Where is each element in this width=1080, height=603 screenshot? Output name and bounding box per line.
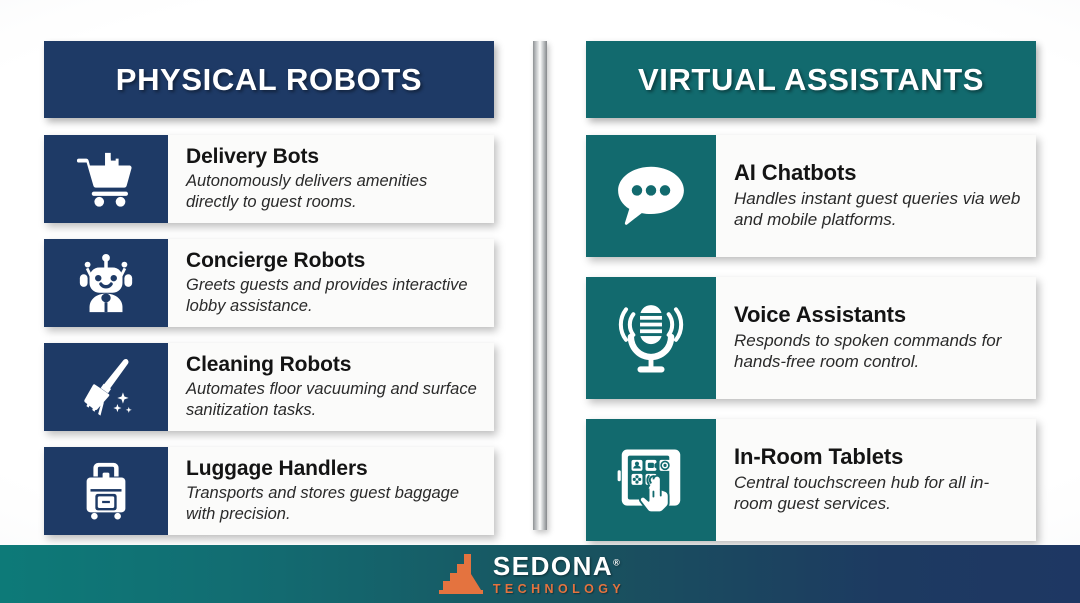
chat-bubble-icon — [612, 157, 690, 235]
card-title: AI Chatbots — [734, 161, 1022, 186]
card-title: In-Room Tablets — [734, 445, 1022, 470]
card-title: Luggage Handlers — [186, 457, 480, 481]
column-virtual-assistants: VIRTUAL ASSISTANTS — [586, 41, 1036, 541]
columns-container: PHYSICAL ROBOTS — [0, 0, 1080, 545]
microphone-waves-icon — [612, 299, 690, 377]
column-header-label: VIRTUAL ASSISTANTS — [638, 62, 984, 98]
center-divider — [533, 41, 547, 530]
card-icon-panel — [44, 343, 168, 431]
card-description: Responds to spoken commands for hands-fr… — [734, 330, 1022, 373]
card-description: Greets guests and provides interactive l… — [186, 275, 480, 317]
logo-brand-label: SEDONA — [493, 551, 613, 581]
card-text-block: Concierge Robots Greets guests and provi… — [168, 239, 494, 327]
card-title: Cleaning Robots — [186, 353, 480, 377]
card-text-block: Delivery Bots Autonomously delivers amen… — [168, 135, 494, 223]
registered-trademark-icon: ® — [613, 557, 620, 567]
card-luggage-handlers[interactable]: Luggage Handlers Transports and stores g… — [44, 447, 494, 535]
card-icon-panel — [44, 135, 168, 223]
card-description: Handles instant guest queries via web an… — [734, 188, 1022, 231]
shopping-cart-icon — [75, 148, 137, 210]
card-ai-chatbots[interactable]: AI Chatbots Handles instant guest querie… — [586, 135, 1036, 257]
card-description: Autonomously delivers amenities directly… — [186, 171, 480, 213]
card-delivery-bots[interactable]: Delivery Bots Autonomously delivers amen… — [44, 135, 494, 223]
card-title: Delivery Bots — [186, 145, 480, 169]
card-concierge-robots[interactable]: Concierge Robots Greets guests and provi… — [44, 239, 494, 327]
card-voice-assistants[interactable]: Voice Assistants Responds to spoken comm… — [586, 277, 1036, 399]
card-text-block: Voice Assistants Responds to spoken comm… — [716, 277, 1036, 399]
card-text-block: Cleaning Robots Automates floor vacuumin… — [168, 343, 494, 431]
column-header-virtual-assistants: VIRTUAL ASSISTANTS — [586, 41, 1036, 118]
card-icon-panel — [44, 447, 168, 535]
suitcase-icon — [75, 460, 137, 522]
card-description: Central touchscreen hub for all in-room … — [734, 472, 1022, 515]
sedona-logo[interactable]: SEDONA® TECHNOLOGY — [439, 553, 625, 596]
robot-face-icon — [75, 252, 137, 314]
footer-bar: SEDONA® TECHNOLOGY — [0, 545, 1080, 603]
card-cleaning-robots[interactable]: Cleaning Robots Automates floor vacuumin… — [44, 343, 494, 431]
card-description: Automates floor vacuuming and surface sa… — [186, 379, 480, 421]
logo-text-block: SEDONA® TECHNOLOGY — [493, 553, 625, 596]
tablet-touch-icon — [612, 441, 690, 519]
card-description: Transports and stores guest baggage with… — [186, 483, 480, 525]
card-icon-panel — [586, 419, 716, 541]
card-text-block: In-Room Tablets Central touchscreen hub … — [716, 419, 1036, 541]
card-icon-panel — [586, 277, 716, 399]
card-title: Concierge Robots — [186, 249, 480, 273]
column-header-label: PHYSICAL ROBOTS — [116, 62, 422, 98]
column-physical-robots: PHYSICAL ROBOTS — [44, 41, 494, 535]
broom-sparkle-icon — [75, 356, 137, 418]
infographic-page: PHYSICAL ROBOTS — [0, 0, 1080, 603]
mountain-logo-icon — [439, 554, 483, 594]
cards-list-physical-robots: Delivery Bots Autonomously delivers amen… — [44, 135, 494, 535]
logo-tagline: TECHNOLOGY — [493, 583, 625, 596]
column-header-physical-robots: PHYSICAL ROBOTS — [44, 41, 494, 118]
card-text-block: Luggage Handlers Transports and stores g… — [168, 447, 494, 535]
logo-brand-name: SEDONA® — [493, 553, 625, 579]
card-in-room-tablets[interactable]: In-Room Tablets Central touchscreen hub … — [586, 419, 1036, 541]
cards-list-virtual-assistants: AI Chatbots Handles instant guest querie… — [586, 135, 1036, 541]
card-text-block: AI Chatbots Handles instant guest querie… — [716, 135, 1036, 257]
card-icon-panel — [44, 239, 168, 327]
card-title: Voice Assistants — [734, 303, 1022, 328]
card-icon-panel — [586, 135, 716, 257]
